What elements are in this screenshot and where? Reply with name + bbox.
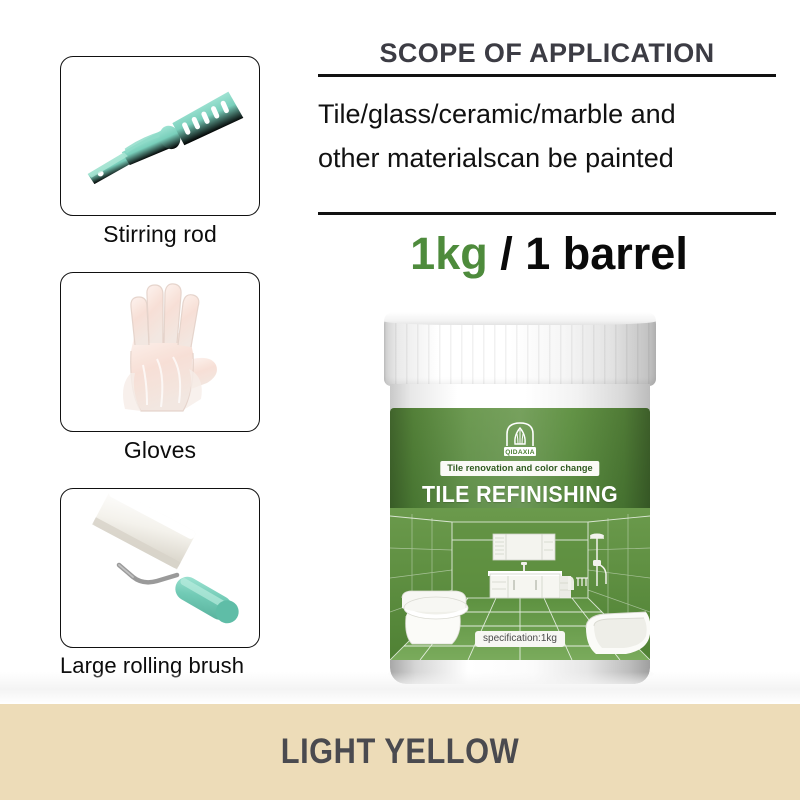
glove-icon [61,273,260,432]
list-item: Large rolling brush [60,488,260,679]
accessory-image-box [60,272,260,432]
color-name: LIGHT YELLOW [48,732,752,772]
list-item: Stirring rod [60,56,260,248]
brand-leaf-logo-icon: QIDAXIA [497,420,543,460]
product-headline: TILE REFINISHING [399,481,641,508]
accessory-image-box [60,56,260,216]
bottom-fade [0,672,800,704]
stirring-rod-icon [61,57,260,216]
divider-top [318,74,776,77]
quantity-barrel: / 1 barrel [488,228,688,279]
accessory-label: Gloves [60,437,260,464]
lid-top-surface [384,312,656,325]
product-tagline: Tile renovation and color change [440,461,599,476]
accessory-label: Stirring rod [60,221,260,248]
divider-bottom [318,212,776,215]
accessory-image-box [60,488,260,648]
lid-ridges [384,322,656,384]
specification-badge: specification:1kg [475,631,565,647]
paint-roller-icon [61,489,260,648]
svg-text:QIDAXIA: QIDAXIA [505,449,535,456]
jar-neck [390,384,650,410]
jar-body: QIDAXIA Tile renovation and color change… [390,408,650,684]
scope-line-1: Tile/glass/ceramic/marble and [318,92,788,136]
product-jar: QIDAXIA Tile renovation and color change… [380,312,660,684]
page-title: SCOPE OF APPLICATION [318,38,776,69]
color-banner: LIGHT YELLOW [0,704,800,800]
product-infographic: Stirring rod [0,0,800,800]
quantity-line: 1kg / 1 barrel [318,228,780,280]
product-label: QIDAXIA Tile renovation and color change… [390,408,650,662]
quantity-weight: 1kg [410,228,488,279]
scope-description: Tile/glass/ceramic/marble and other mate… [318,92,788,180]
list-item: Gloves [60,272,260,464]
accessory-list: Stirring rod [0,0,320,700]
scope-line-2: other materialscan be painted [318,136,788,180]
